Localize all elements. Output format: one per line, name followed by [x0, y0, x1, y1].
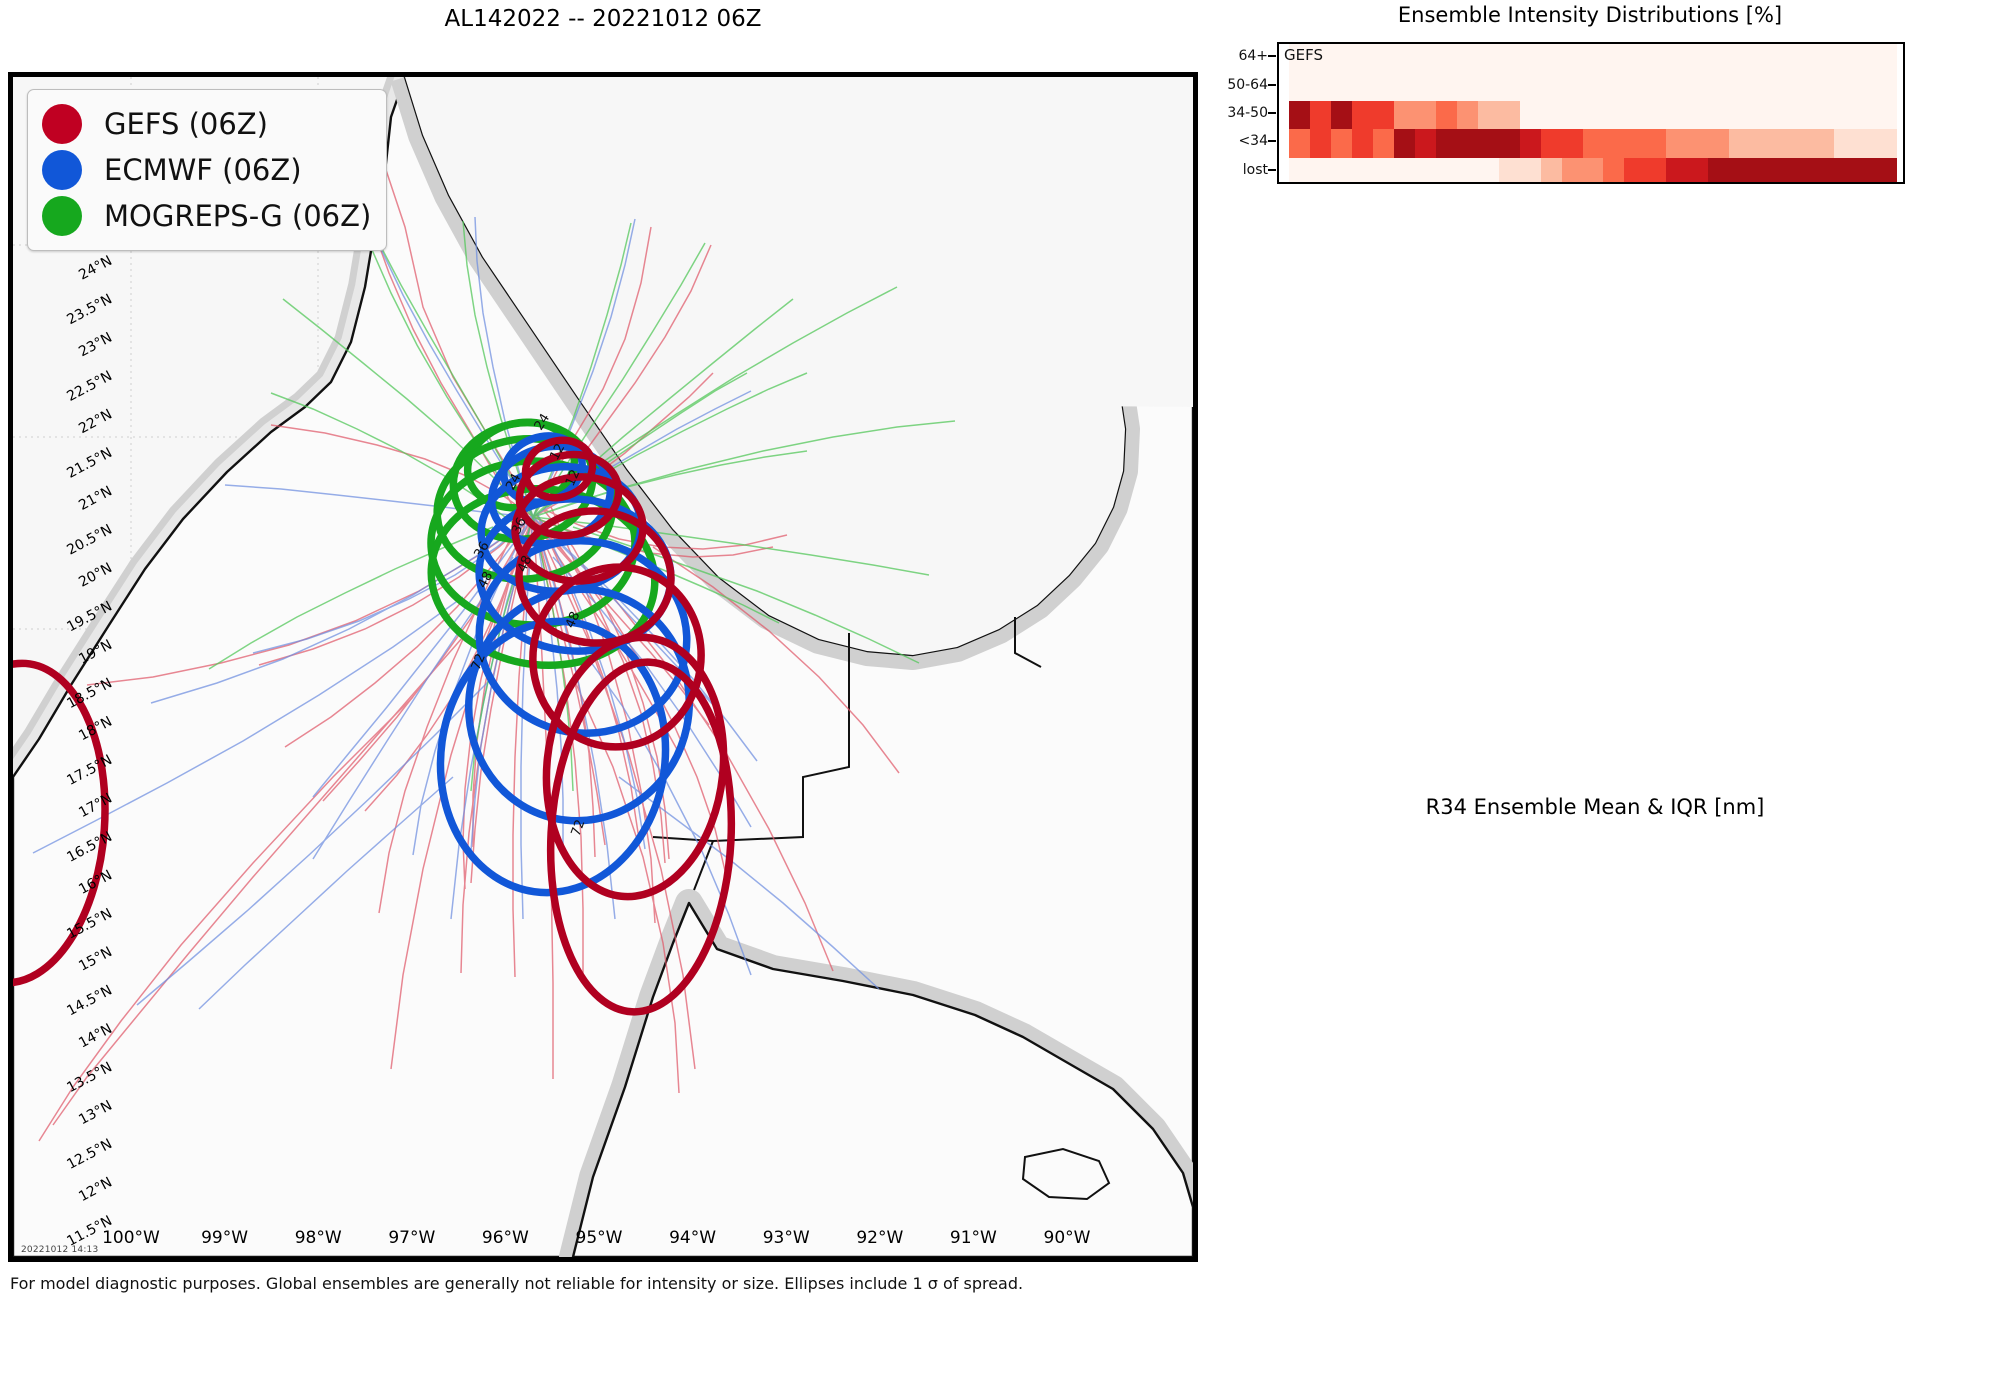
- heatmap-cell: [1583, 129, 1604, 158]
- heatmap-cell: [1436, 72, 1457, 101]
- heatmap-cell: [1645, 44, 1666, 73]
- map-timestamp: 20221012 14:13: [21, 1245, 98, 1255]
- heatmap-cell: [1478, 158, 1499, 184]
- heatmap-cell: [1373, 158, 1394, 184]
- heatmap-cell: [1792, 129, 1813, 158]
- legend-label-ecmwf: ECMWF (06Z): [104, 153, 302, 187]
- heatmap-cell: [1373, 44, 1394, 73]
- heatmap-cell: [1855, 158, 1876, 184]
- heatmap-cell: [1834, 72, 1855, 101]
- heatmap-cell: [1310, 101, 1331, 130]
- heatmap-y-tick-label: 50-64: [1207, 77, 1277, 93]
- heatmap-cell: [1813, 72, 1834, 101]
- heatmap-cell: [1792, 101, 1813, 130]
- heatmap-cell: [1583, 44, 1604, 73]
- map-frame[interactable]: 24 12 12 24 36 48 36 48 48 72 72 24.5°N2…: [8, 72, 1198, 1262]
- heatmap-cell: [1478, 129, 1499, 158]
- heatmap-cell: [1645, 158, 1666, 184]
- heatmap-cell: [1750, 44, 1771, 73]
- mogreps-color-swatch: [42, 196, 82, 236]
- heatmap-cell: [1436, 158, 1457, 184]
- intensity-section-title: Ensemble Intensity Distributions [%]: [1210, 3, 1970, 27]
- heatmap-cell: [1603, 129, 1624, 158]
- heatmap-cell: [1603, 44, 1624, 73]
- heatmap-cell: [1394, 129, 1415, 158]
- heatmap-cell: [1562, 101, 1583, 130]
- heatmap-cell: [1645, 72, 1666, 101]
- heatmap-cell: [1541, 158, 1562, 184]
- heatmap-cell: [1457, 72, 1478, 101]
- heatmap-cell: [1499, 72, 1520, 101]
- heatmap-cell: [1394, 158, 1415, 184]
- heatmap-cell: [1583, 72, 1604, 101]
- gefs-color-swatch: [42, 104, 82, 144]
- heatmap-cell: [1876, 44, 1897, 73]
- heatmap-cell: [1541, 101, 1562, 130]
- heatmap-cell: [1792, 44, 1813, 73]
- heatmap-cell: [1289, 72, 1310, 101]
- heatmap-cell: [1331, 101, 1352, 130]
- heatmap-cell: [1603, 72, 1624, 101]
- heatmap-cell: [1310, 129, 1331, 158]
- disclaimer-text: For model diagnostic purposes. Global en…: [10, 1274, 1023, 1293]
- heatmap-cell: [1813, 158, 1834, 184]
- heatmap-cell: [1708, 44, 1729, 73]
- heatmap-cell: [1415, 129, 1436, 158]
- heatmap-cell: [1520, 129, 1541, 158]
- heatmap-cell: [1583, 101, 1604, 130]
- heatmap-cell: [1813, 101, 1834, 130]
- heatmap-cell: [1624, 158, 1645, 184]
- heatmap-cell: [1666, 158, 1687, 184]
- quadrant-plot-neq[interactable]: [1638, 872, 1908, 1062]
- heatmap-y-tick-label: 34-50: [1207, 105, 1277, 121]
- heatmap-cell: [1750, 72, 1771, 101]
- heatmap-cell: [1289, 129, 1310, 158]
- heatmap-cell: [1520, 44, 1541, 73]
- heatmap-cell: [1541, 44, 1562, 73]
- heatmap-cell: [1499, 101, 1520, 130]
- heatmap-cell: [1624, 129, 1645, 158]
- heatmap-cell: [1771, 44, 1792, 73]
- heatmap-cell: [1541, 129, 1562, 158]
- heatmap-y-tick-label: 64+: [1207, 48, 1277, 64]
- heatmap-cell: [1457, 101, 1478, 130]
- heatmap-cell: [1687, 44, 1708, 73]
- heatmap-y-tick: [1268, 84, 1276, 86]
- heatmap-model-label: GEFS: [1284, 46, 1323, 64]
- heatmap-cell: [1729, 44, 1750, 73]
- ecmwf-color-swatch: [42, 150, 82, 190]
- heatmap-cell: [1478, 44, 1499, 73]
- heatmap-cell: [1687, 129, 1708, 158]
- heatmap-cell: [1352, 101, 1373, 130]
- forecast-map-panel[interactable]: 24 12 12 24 36 48 36 48 48 72 72 24.5°N2…: [8, 72, 1198, 1262]
- heatmap-cell: [1771, 72, 1792, 101]
- heatmap-cell: [1876, 158, 1897, 184]
- legend-item-mogreps[interactable]: MOGREPS-G (06Z): [42, 193, 372, 239]
- heatmap-cell: [1645, 101, 1666, 130]
- heatmap-cell: [1834, 158, 1855, 184]
- heatmap-cell: [1603, 101, 1624, 130]
- heatmap-cell: [1855, 129, 1876, 158]
- heatmap-cell: [1499, 158, 1520, 184]
- heatmap-cell: [1603, 158, 1624, 184]
- legend-item-ecmwf[interactable]: ECMWF (06Z): [42, 147, 372, 193]
- model-legend[interactable]: GEFS (06Z) ECMWF (06Z) MOGREPS-G (06Z): [27, 89, 387, 251]
- map-canvas: 24 12 12 24 36 48 36 48 48 72 72: [13, 77, 1193, 1257]
- heatmap-cell: [1729, 101, 1750, 130]
- heatmap-cell: [1352, 158, 1373, 184]
- heatmap-cell: [1624, 44, 1645, 73]
- heatmap-y-tick-label: <34: [1207, 133, 1277, 149]
- heatmap-cell: [1520, 72, 1541, 101]
- heatmap-cell: [1645, 129, 1666, 158]
- heatmap-cell: [1562, 72, 1583, 101]
- heatmap-cell: [1876, 129, 1897, 158]
- legend-item-gefs[interactable]: GEFS (06Z): [42, 101, 372, 147]
- heatmap-cell: [1813, 44, 1834, 73]
- heatmap-cell: [1457, 44, 1478, 73]
- heatmap-cell: [1729, 129, 1750, 158]
- heatmap-cell: [1687, 101, 1708, 130]
- heatmap-cell: [1352, 129, 1373, 158]
- heatmap-cell: [1457, 129, 1478, 158]
- heatmap-cell: [1499, 129, 1520, 158]
- heatmap-ecmwf[interactable]: [1277, 307, 1905, 449]
- heatmap-cell: [1729, 158, 1750, 184]
- heatmap-cell: [1520, 158, 1541, 184]
- heatmap-cell: [1750, 158, 1771, 184]
- colorbar-ecmwf: [1932, 322, 2000, 444]
- heatmap-cell: [1834, 129, 1855, 158]
- colorbar-gefs: [1932, 58, 2000, 180]
- legend-label-gefs: GEFS (06Z): [104, 107, 268, 141]
- heatmap-cell: [1394, 44, 1415, 73]
- heatmap-cell: [1624, 101, 1645, 130]
- heatmap-cell: [1352, 44, 1373, 73]
- heatmap-cell: [1415, 72, 1436, 101]
- heatmap-cell: [1750, 129, 1771, 158]
- heatmap-cell: [1415, 44, 1436, 73]
- heatmap-cell: [1855, 101, 1876, 130]
- heatmap-cell: [1562, 129, 1583, 158]
- heatmap-cell: [1834, 44, 1855, 73]
- heatmap-gefs[interactable]: GEFS64+50-6434-50<34lost: [1277, 42, 1905, 184]
- heatmap-cell: [1331, 129, 1352, 158]
- heatmap-cell: [1792, 158, 1813, 184]
- heatmap-cell: [1331, 158, 1352, 184]
- heatmap-y-tick: [1268, 112, 1276, 114]
- heatmap-cell: [1352, 72, 1373, 101]
- heatmap-cell: [1436, 44, 1457, 73]
- colorbar-mogreps: [1932, 567, 2000, 689]
- heatmap-cell: [1792, 72, 1813, 101]
- heatmap-cell: [1289, 101, 1310, 130]
- page-title: AL142022 -- 20221012 06Z: [8, 6, 1198, 32]
- heatmap-cell: [1708, 158, 1729, 184]
- heatmap-cell: [1436, 101, 1457, 130]
- heatmap-cell: [1708, 72, 1729, 101]
- heatmap-cell: [1310, 158, 1331, 184]
- quadrant-plot-nwq[interactable]: [1247, 872, 1517, 1062]
- heatmap-cell: [1331, 44, 1352, 73]
- heatmap-cell: [1373, 72, 1394, 101]
- heatmap-cell: [1415, 101, 1436, 130]
- heatmap-cell: [1729, 72, 1750, 101]
- heatmap-cell: [1583, 158, 1604, 184]
- heatmap-cell: [1373, 129, 1394, 158]
- legend-label-mogreps: MOGREPS-G (06Z): [104, 199, 371, 233]
- heatmap-cell: [1834, 101, 1855, 130]
- heatmap-cell: [1876, 101, 1897, 130]
- heatmap-cell: [1436, 129, 1457, 158]
- heatmap-cell: [1813, 129, 1834, 158]
- heatmap-cell: [1666, 72, 1687, 101]
- heatmap-cell: [1562, 158, 1583, 184]
- heatmap-cell: [1310, 72, 1331, 101]
- heatmap-y-tick: [1268, 169, 1276, 171]
- heatmap-cell: [1687, 158, 1708, 184]
- r34-section-title: R34 Ensemble Mean & IQR [nm]: [1200, 795, 1990, 819]
- heatmap-y-tick: [1268, 140, 1276, 142]
- heatmap-cell: [1331, 72, 1352, 101]
- heatmap-cell: [1415, 158, 1436, 184]
- heatmap-cell: [1666, 44, 1687, 73]
- heatmap-cell: [1394, 101, 1415, 130]
- heatmap-cell: [1771, 129, 1792, 158]
- heatmap-cell: [1876, 72, 1897, 101]
- heatmap-cell: [1520, 101, 1541, 130]
- quadrant-plot-swq[interactable]: [1247, 1158, 1517, 1348]
- heatmap-cell: [1771, 158, 1792, 184]
- heatmap-mogreps[interactable]: [1277, 552, 1905, 694]
- heatmap-cell: [1562, 44, 1583, 73]
- heatmap-cell: [1855, 44, 1876, 73]
- quadrant-plot-seq[interactable]: [1638, 1158, 1908, 1348]
- heatmap-plot-area: GEFS: [1277, 42, 1905, 184]
- heatmap-cell: [1478, 72, 1499, 101]
- heatmap-cell: [1666, 101, 1687, 130]
- heatmap-cell: [1541, 72, 1562, 101]
- heatmap-cell: [1373, 101, 1394, 130]
- heatmap-cell: [1394, 72, 1415, 101]
- heatmap-cell: [1771, 101, 1792, 130]
- heatmap-cell: [1750, 101, 1771, 130]
- heatmap-cell: [1289, 158, 1310, 184]
- heatmap-cell: [1666, 129, 1687, 158]
- heatmap-cell: [1478, 101, 1499, 130]
- heatmap-cell: [1499, 44, 1520, 73]
- heatmap-cell: [1457, 158, 1478, 184]
- heatmap-cell: [1624, 72, 1645, 101]
- heatmap-cell: [1687, 72, 1708, 101]
- heatmap-y-tick-label: lost: [1207, 162, 1277, 178]
- heatmap-cell: [1708, 129, 1729, 158]
- heatmap-cell: [1708, 101, 1729, 130]
- heatmap-cell: [1855, 72, 1876, 101]
- heatmap-y-tick: [1268, 55, 1276, 57]
